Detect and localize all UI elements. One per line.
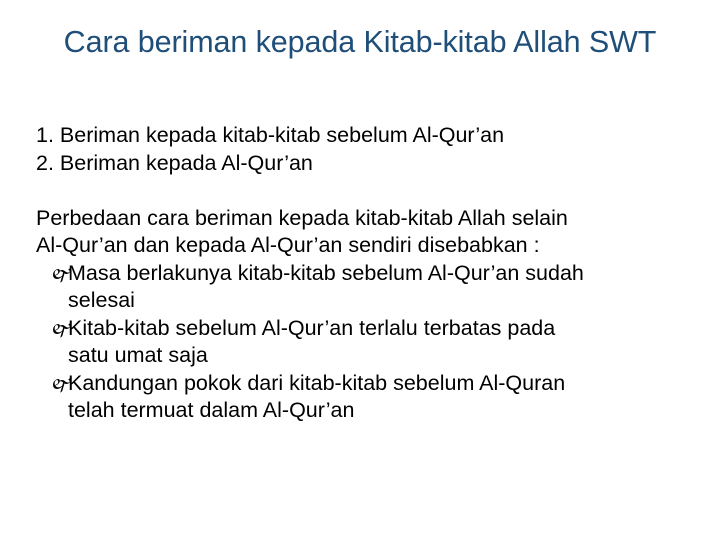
list-item: 2. Beriman kepada Al-Qur’an <box>36 150 696 178</box>
slide-body-content: 1. Beriman kepada kitab-kitab sebelum Al… <box>36 122 696 425</box>
list-marker: 2. <box>36 151 54 175</box>
numbered-list: 1. Beriman kepada kitab-kitab sebelum Al… <box>36 122 696 177</box>
script-ampersand-ornament-bullet-icon: 🙰 <box>50 371 70 399</box>
list-item-text: Beriman kepada Al-Qur’an <box>60 151 313 175</box>
paragraph-spacer <box>36 177 696 205</box>
presentation-slide: Cara beriman kepada Kitab-kitab Allah SW… <box>0 0 720 540</box>
list-marker: 1. <box>36 123 54 147</box>
script-ampersand-ornament-bullet-icon: 🙰 <box>50 316 70 344</box>
list-item: 1. Beriman kepada kitab-kitab sebelum Al… <box>36 122 696 150</box>
list-item-text: Kandungan pokok dari kitab-kitab sebelum… <box>68 370 708 425</box>
list-item: 🙰 Kandungan pokok dari kitab-kitab sebel… <box>36 370 708 425</box>
script-ampersand-ornament-bullet-icon: 🙰 <box>50 261 70 289</box>
list-item-text: Masa berlakunya kitab-kitab sebelum Al-Q… <box>68 260 708 315</box>
slide-title: Cara beriman kepada Kitab-kitab Allah SW… <box>18 24 702 61</box>
list-item-text: Kitab-kitab sebelum Al-Qur’an terlalu te… <box>68 315 708 370</box>
list-item: 🙰 Kitab-kitab sebelum Al-Qur’an terlalu … <box>36 315 708 370</box>
list-item: 🙰 Masa berlakunya kitab-kitab sebelum Al… <box>36 260 708 315</box>
list-item-text: Beriman kepada kitab-kitab sebelum Al-Qu… <box>60 123 504 147</box>
intro-paragraph: Perbedaan cara beriman kepada kitab-kita… <box>36 205 676 260</box>
bullet-list: 🙰 Masa berlakunya kitab-kitab sebelum Al… <box>36 260 696 425</box>
